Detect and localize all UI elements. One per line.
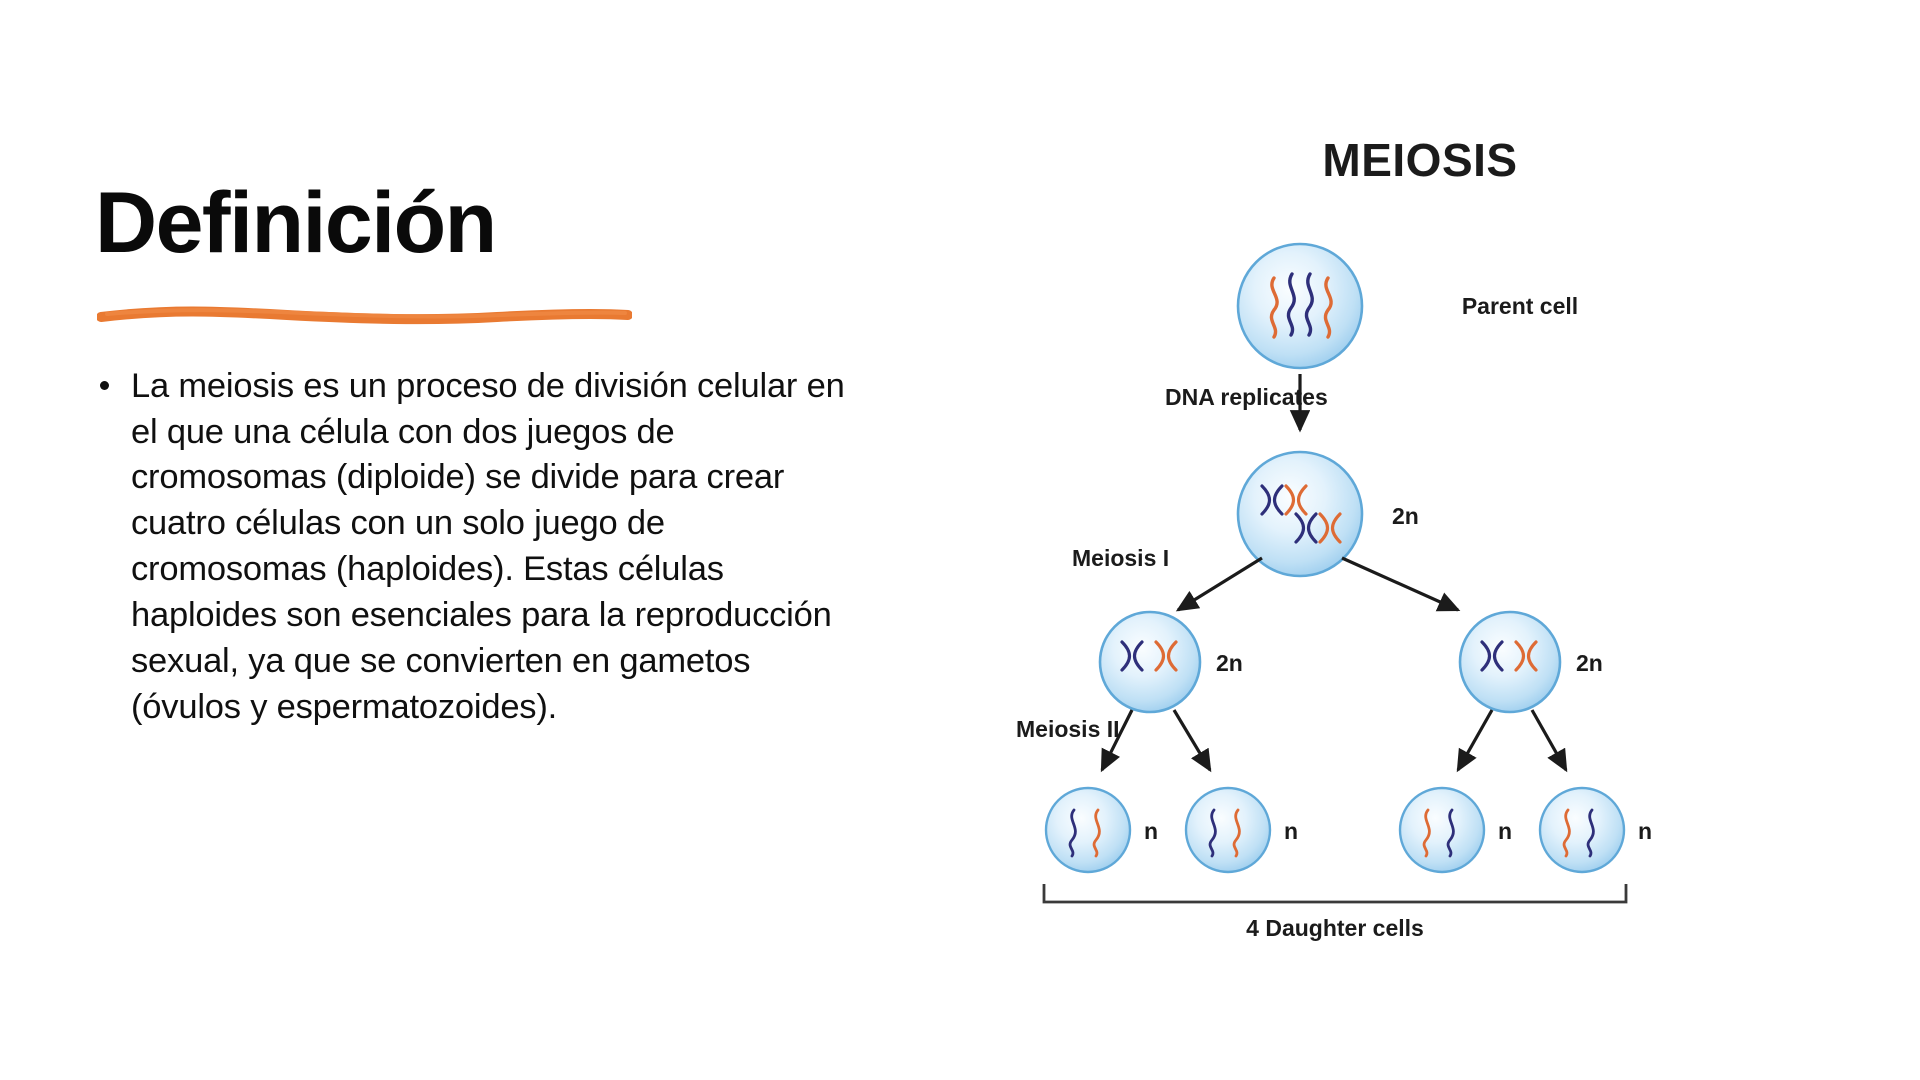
- bullet-list: La meiosis es un proceso de división cel…: [95, 364, 855, 731]
- meiosis-i-cell-right: [1460, 612, 1560, 712]
- meiosis-i-left-ploidy: 2n: [1216, 650, 1243, 676]
- meiosis-i-arrow-right: [1342, 558, 1458, 610]
- replicated-cell-ploidy: 2n: [1392, 503, 1419, 529]
- diagram-title: MEIOSIS: [1322, 134, 1517, 186]
- meiosis-ii-arrow-3: [1458, 710, 1492, 770]
- slide-text-column: Definición La meiosis es un proceso de d…: [95, 180, 855, 731]
- daughter-cell-3-ploidy: n: [1498, 818, 1512, 844]
- meiosis-i-cell-left: [1100, 612, 1200, 712]
- meiosis-i-arrow-left: [1178, 558, 1262, 610]
- daughter-cell-1: [1046, 788, 1130, 872]
- bullet-text: La meiosis es un proceso de división cel…: [131, 367, 845, 726]
- bullet-point-icon: [100, 381, 109, 390]
- dna-replicates-label: DNA replicates: [1165, 384, 1328, 410]
- meiosis-ii-label: Meiosis II: [1016, 716, 1120, 742]
- daughter-cells-label: 4 Daughter cells: [1246, 915, 1424, 941]
- daughter-cell-4-ploidy: n: [1638, 818, 1652, 844]
- daughter-cell-1-ploidy: n: [1144, 818, 1158, 844]
- title-underline-accent: [97, 302, 632, 328]
- daughter-cell-2-ploidy: n: [1284, 818, 1298, 844]
- page-title: Definición: [95, 180, 855, 268]
- meiosis-diagram: MEIOSIS Parent cell DNA replicates: [1010, 118, 1830, 958]
- daughter-cells-bracket: [1044, 884, 1626, 902]
- meiosis-ii-arrow-2: [1174, 710, 1210, 770]
- parent-cell-label: Parent cell: [1462, 293, 1578, 319]
- slide-canvas: Definición La meiosis es un proceso de d…: [0, 0, 1920, 1080]
- meiosis-ii-arrow-4: [1532, 710, 1566, 770]
- list-item: La meiosis es un proceso de división cel…: [95, 364, 846, 731]
- parent-cell: [1238, 244, 1362, 368]
- meiosis-i-right-ploidy: 2n: [1576, 650, 1603, 676]
- meiosis-i-label: Meiosis I: [1072, 545, 1169, 571]
- daughter-cell-2: [1186, 788, 1270, 872]
- daughter-cell-4: [1540, 788, 1624, 872]
- daughter-cell-3: [1400, 788, 1484, 872]
